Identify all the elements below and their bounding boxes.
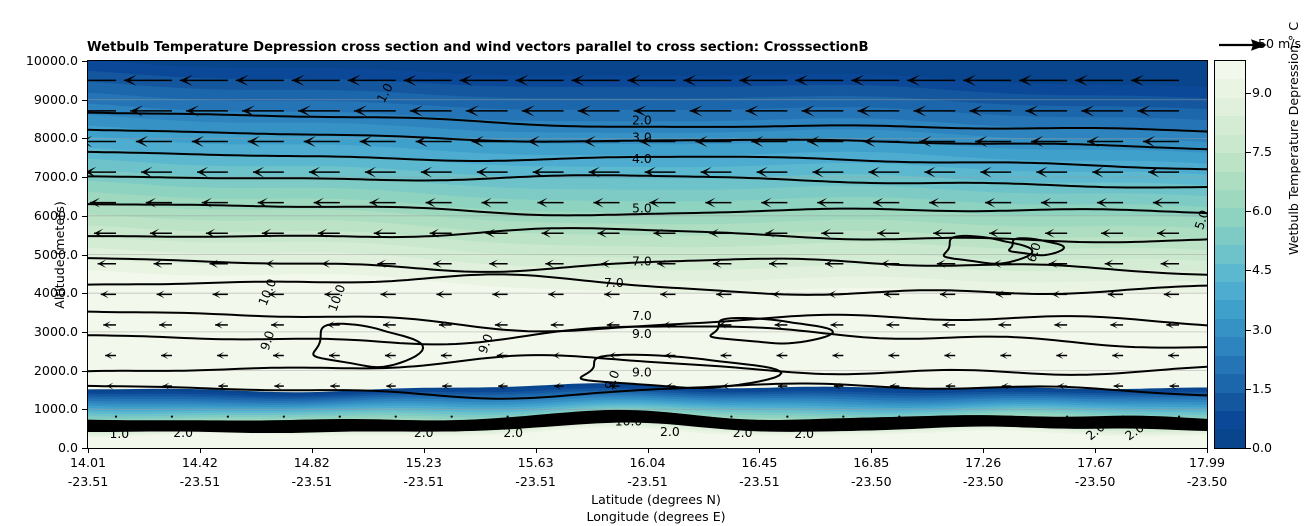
svg-text:7.0: 7.0	[632, 253, 652, 268]
x-axis-latitude-tick-label: 14.01	[48, 455, 128, 470]
svg-text:9.0: 9.0	[632, 365, 652, 380]
colorbar-segment	[1215, 337, 1245, 355]
svg-text:2.0: 2.0	[794, 426, 814, 441]
colorbar-segment	[1215, 374, 1245, 392]
x-axis-title-longitude: Longitude (degrees E)	[0, 509, 1312, 524]
y-axis-tick-mark	[82, 138, 87, 139]
svg-text:2.0: 2.0	[660, 424, 680, 439]
x-axis-tick-mark	[871, 448, 872, 453]
x-axis-tick-mark	[200, 448, 201, 453]
y-axis-tick-mark	[82, 332, 87, 333]
y-axis-tick-mark	[82, 371, 87, 372]
svg-text:5.0: 5.0	[632, 201, 652, 216]
colorbar-title: Wetbulb Temperature Depression ° C	[1286, 22, 1301, 255]
svg-text:2.0: 2.0	[733, 425, 753, 440]
x-axis-title-latitude: Latitude (degrees N)	[0, 492, 1312, 507]
colorbar-segment	[1215, 411, 1245, 429]
x-axis-longitude-tick-label: -23.51	[608, 474, 688, 489]
svg-text:2.0: 2.0	[173, 425, 193, 440]
colorbar-tick-mark	[1246, 152, 1251, 153]
x-axis-tick-mark	[983, 448, 984, 453]
y-axis-tick-mark	[82, 61, 87, 62]
svg-text:7.0: 7.0	[604, 275, 624, 290]
colorbar-segment	[1215, 356, 1245, 374]
y-axis-tick-mark	[82, 177, 87, 178]
y-axis-tick-label: 8000.0	[34, 130, 78, 145]
x-axis-tick-mark	[759, 448, 760, 453]
x-axis-longitude-tick-label: -23.51	[48, 474, 128, 489]
colorbar-tick-label: 1.5	[1252, 381, 1272, 396]
colorbar-tick-label: 6.0	[1252, 203, 1272, 218]
x-axis-latitude-tick-label: 15.63	[496, 455, 576, 470]
x-axis-longitude-tick-label: -23.50	[831, 474, 911, 489]
colorbar-tick-mark	[1246, 270, 1251, 271]
colorbar-tick-label: 4.5	[1252, 262, 1272, 277]
x-axis-latitude-tick-label: 16.45	[719, 455, 799, 470]
colorbar-segment	[1215, 227, 1245, 245]
x-axis-longitude-tick-label: -23.50	[1055, 474, 1135, 489]
title-line-1: Wetbulb Temperature Depression cross sec…	[87, 40, 1087, 57]
y-axis-tick-mark	[82, 409, 87, 410]
colorbar-segment	[1215, 172, 1245, 190]
svg-text:10.0: 10.0	[615, 414, 643, 429]
x-axis-longitude-tick-label: -23.51	[496, 474, 576, 489]
x-axis-tick-mark	[424, 448, 425, 453]
x-axis-latitude-tick-label: 14.82	[272, 455, 352, 470]
colorbar-segment	[1215, 393, 1245, 411]
colorbar-segment	[1215, 79, 1245, 97]
colorbar[interactable]	[1214, 60, 1246, 449]
svg-text:4.0: 4.0	[632, 151, 652, 166]
svg-text:1.0: 1.0	[109, 426, 129, 441]
x-axis-longitude-tick-label: -23.51	[272, 474, 352, 489]
y-axis-tick-mark	[82, 255, 87, 256]
x-axis-longitude-tick-label: -23.50	[943, 474, 1023, 489]
colorbar-tick-mark	[1246, 330, 1251, 331]
colorbar-tick-label: 0.0	[1252, 440, 1272, 455]
y-axis-tick-label: 3000.0	[34, 324, 78, 339]
contour-field: 1.02.03.04.05.07.07.07.09.09.010.010.09.…	[88, 61, 1207, 448]
colorbar-segment	[1215, 264, 1245, 282]
colorbar-segment	[1215, 135, 1245, 153]
x-axis-tick-mark	[88, 448, 89, 453]
x-axis-longitude-tick-label: -23.51	[719, 474, 799, 489]
colorbar-segment	[1215, 245, 1245, 263]
x-axis-latitude-tick-label: 17.99	[1167, 455, 1247, 470]
x-axis-longitude-tick-label: -23.50	[1167, 474, 1247, 489]
x-axis-latitude-tick-label: 17.26	[943, 455, 1023, 470]
svg-text:3.0: 3.0	[632, 130, 652, 145]
x-axis-tick-mark	[1207, 448, 1208, 453]
x-axis-latitude-tick-label: 16.85	[831, 455, 911, 470]
colorbar-segment	[1215, 116, 1245, 134]
svg-text:9.0: 9.0	[632, 326, 652, 341]
colorbar-segment	[1215, 282, 1245, 300]
colorbar-tick-mark	[1246, 211, 1251, 212]
svg-text:2.0: 2.0	[632, 112, 652, 127]
colorbar-tick-label: 9.0	[1252, 85, 1272, 100]
y-axis-tick-label: 1000.0	[34, 401, 78, 416]
colorbar-tick-label: 3.0	[1252, 322, 1272, 337]
colorbar-segment	[1215, 153, 1245, 171]
x-axis-tick-mark	[1095, 448, 1096, 453]
x-axis-tick-mark	[312, 448, 313, 453]
y-axis-title: Altitude (meters)	[52, 201, 67, 308]
colorbar-segment	[1215, 61, 1245, 79]
colorbar-segment	[1215, 98, 1245, 116]
colorbar-segment	[1215, 208, 1245, 226]
colorbar-segment	[1215, 319, 1245, 337]
y-axis-tick-mark	[82, 216, 87, 217]
y-axis-tick-mark	[82, 448, 87, 449]
y-axis-tick-label: 7000.0	[34, 169, 78, 184]
x-axis-tick-mark	[648, 448, 649, 453]
x-axis-latitude-tick-label: 14.42	[160, 455, 240, 470]
x-axis-longitude-tick-label: -23.51	[160, 474, 240, 489]
y-axis-tick-label: 2000.0	[34, 363, 78, 378]
y-axis-tick-label: 10000.0	[26, 53, 78, 68]
svg-text:2.0: 2.0	[414, 425, 434, 440]
colorbar-tick-mark	[1246, 448, 1251, 449]
svg-text:2.0: 2.0	[503, 425, 523, 440]
colorbar-tick-label: 7.5	[1252, 144, 1272, 159]
x-axis-latitude-tick-label: 17.67	[1055, 455, 1135, 470]
colorbar-segment	[1215, 190, 1245, 208]
y-axis-tick-label: 0.0	[58, 440, 78, 455]
svg-text:7.0: 7.0	[632, 308, 652, 323]
colorbar-segment	[1215, 300, 1245, 318]
y-axis-tick-mark	[82, 100, 87, 101]
y-axis-tick-label: 9000.0	[34, 92, 78, 107]
colorbar-tick-mark	[1246, 93, 1251, 94]
y-axis-tick-mark	[82, 293, 87, 294]
x-axis-longitude-tick-label: -23.51	[384, 474, 464, 489]
x-axis-tick-mark	[536, 448, 537, 453]
x-axis-latitude-tick-label: 15.23	[384, 455, 464, 470]
x-axis-latitude-tick-label: 16.04	[608, 455, 688, 470]
cross-section-plot[interactable]: 1.02.03.04.05.07.07.07.09.09.010.010.09.…	[87, 60, 1208, 449]
colorbar-tick-mark	[1246, 389, 1251, 390]
colorbar-segment	[1215, 429, 1245, 447]
